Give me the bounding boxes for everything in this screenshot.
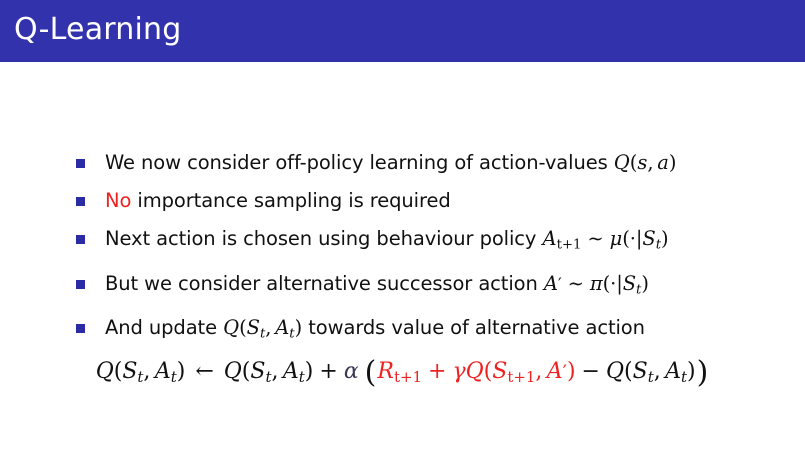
bullet-text-rest: importance sampling is required — [131, 189, 450, 212]
bullet-text-lead: We now consider off-policy learning of a… — [105, 151, 614, 174]
q-learning-update-equation: Q(St, At)←Q(St, At)+α(Rt+1+γQ(St+1, A′)−… — [0, 355, 805, 394]
equation-rhs-current: Q(St, At) — [224, 359, 314, 384]
bullet-text-lead: But we consider alternative successor ac… — [105, 272, 544, 295]
plus-operator: + — [318, 359, 338, 384]
equation-td-target: Rt+1+γQ(St+1, A′) — [377, 359, 575, 384]
math-behaviour-policy: At+1∼μ(·|St) — [542, 227, 668, 250]
bullet-text-lead: And update — [105, 316, 223, 339]
close-group-paren: ) — [696, 355, 710, 390]
square-bullet-icon — [76, 280, 85, 289]
equation-current-estimate: Q(St, At) — [606, 359, 696, 384]
list-item-off-policy: We now consider off-policy learning of a… — [76, 147, 786, 178]
list-item-no-importance-sampling: No importance sampling is required — [76, 185, 786, 216]
square-bullet-icon — [76, 324, 85, 333]
square-bullet-icon — [76, 197, 85, 206]
list-item-behaviour-policy: Next action is chosen using behaviour po… — [76, 223, 786, 261]
bullet-list: We now consider off-policy learning of a… — [76, 147, 786, 357]
slide-content: We now consider off-policy learning of a… — [0, 62, 805, 451]
open-group-paren: ( — [364, 355, 378, 390]
slide-canvas: Q-Learning We now consider off-policy le… — [0, 0, 805, 451]
minus-operator: − — [581, 359, 601, 384]
list-item-and-update: And update Q(St, At) towards value of al… — [76, 312, 786, 350]
math-q-s-a: Q(s, a) — [614, 151, 677, 174]
page-title: Q-Learning — [14, 11, 182, 49]
math-q-st-at: Q(St, At) — [223, 316, 302, 339]
slide-title-bar: Q-Learning — [0, 0, 805, 62]
math-alternative-action: A′∼π(·|St) — [544, 272, 649, 295]
square-bullet-icon — [76, 159, 85, 168]
bullet-text-lead: Next action is chosen using behaviour po… — [105, 227, 542, 250]
bullet-text-tail: towards value of alternative action — [302, 316, 645, 339]
highlight-no: No — [105, 189, 131, 212]
alpha-symbol: α — [344, 359, 359, 384]
equation-lhs: Q(St, At) — [96, 359, 186, 384]
assign-arrow-icon: ← — [194, 359, 214, 384]
square-bullet-icon — [76, 235, 85, 244]
list-item-alternative-successor: But we consider alternative successor ac… — [76, 268, 786, 306]
